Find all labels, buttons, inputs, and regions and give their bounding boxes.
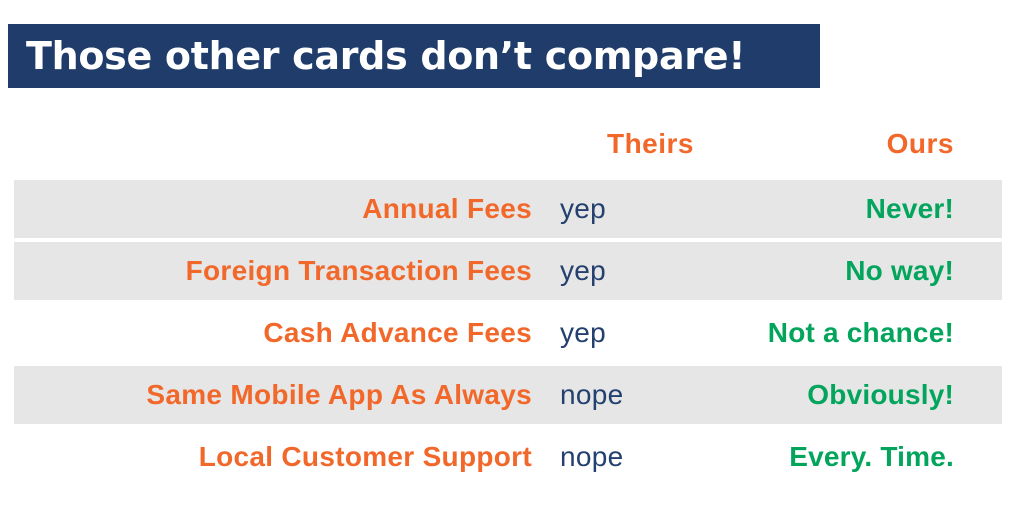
title-banner: Those other cards don’t compare! xyxy=(8,24,820,88)
row-theirs-value: yep xyxy=(560,242,694,300)
row-feature-label: Same Mobile App As Always xyxy=(20,366,532,424)
column-header-ours: Ours xyxy=(0,130,954,158)
row-ours-value: No way! xyxy=(700,242,954,300)
table-row: Same Mobile App As Always nope Obviously… xyxy=(0,366,1024,428)
row-theirs-value: yep xyxy=(560,180,694,238)
row-ours-value: Every. Time. xyxy=(700,428,954,486)
table-header-row: Theirs Ours xyxy=(0,118,1024,180)
comparison-graphic: Those other cards don’t compare! Theirs … xyxy=(0,0,1024,506)
row-theirs-value: nope xyxy=(560,428,694,486)
row-theirs-value: yep xyxy=(560,304,694,362)
row-feature-label: Annual Fees xyxy=(20,180,532,238)
table-row: Annual Fees yep Never! xyxy=(0,180,1024,242)
page-title: Those other cards don’t compare! xyxy=(26,37,745,75)
row-feature-label: Foreign Transaction Fees xyxy=(20,242,532,300)
table-row: Cash Advance Fees yep Not a chance! xyxy=(0,304,1024,366)
comparison-table: Theirs Ours Annual Fees yep Never! Forei… xyxy=(0,118,1024,490)
row-theirs-value: nope xyxy=(560,366,694,424)
row-ours-value: Never! xyxy=(700,180,954,238)
row-feature-label: Local Customer Support xyxy=(20,428,532,486)
table-row: Foreign Transaction Fees yep No way! xyxy=(0,242,1024,304)
row-ours-value: Not a chance! xyxy=(700,304,954,362)
row-feature-label: Cash Advance Fees xyxy=(20,304,532,362)
row-ours-value: Obviously! xyxy=(700,366,954,424)
table-row: Local Customer Support nope Every. Time. xyxy=(0,428,1024,490)
